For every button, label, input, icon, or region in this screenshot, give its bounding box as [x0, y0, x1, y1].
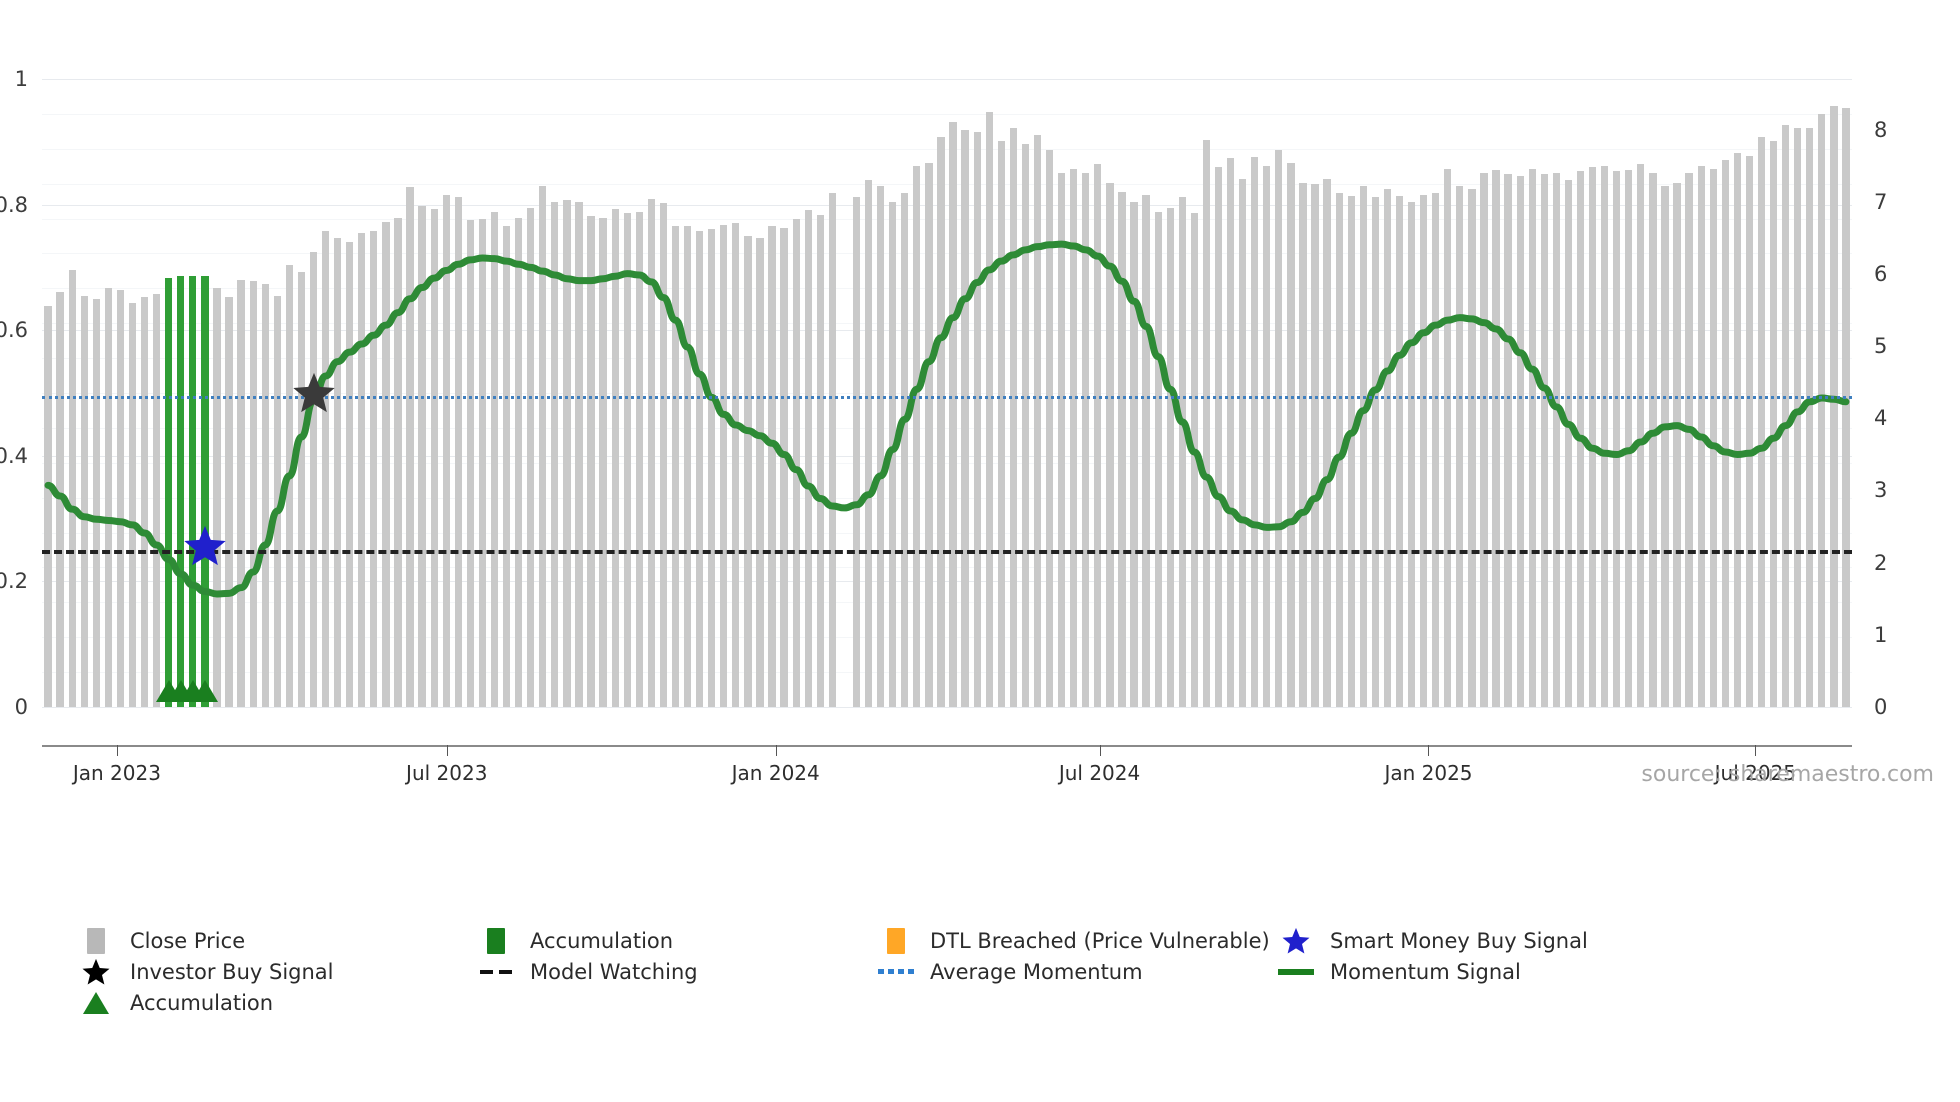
- legend-star-icon: [1278, 928, 1314, 954]
- legend-swatch-icon: [78, 928, 114, 954]
- legend-item-label: DTL Breached (Price Vulnerable): [930, 929, 1270, 953]
- legend-triangle-icon: [78, 990, 114, 1016]
- x-axis-tick: [1755, 745, 1756, 756]
- x-axis: Jan 2023Jul 2023Jan 2024Jul 2024Jan 2025…: [42, 745, 1852, 747]
- accumulation-triangle-icon: [192, 680, 218, 702]
- legend-item-label: Model Watching: [530, 960, 698, 984]
- x-axis-tick-label: Jul 2024: [1059, 761, 1140, 785]
- x-axis-tick-label: Jan 2025: [1384, 761, 1472, 785]
- y-axis-right-tick-label: 6: [1874, 262, 1887, 286]
- y-axis-left-tick-label: 1: [15, 67, 28, 91]
- legend-item[interactable]: Accumulation: [478, 925, 878, 956]
- legend-item-label: Investor Buy Signal: [130, 960, 334, 984]
- x-axis-tick: [117, 745, 118, 756]
- legend-item-label: Accumulation: [130, 991, 273, 1015]
- legend-item-label: Smart Money Buy Signal: [1330, 929, 1588, 953]
- y-axis-left-tick-label: 0.8: [0, 193, 28, 217]
- y-axis-right-tick-label: 3: [1874, 478, 1887, 502]
- legend-item-label: Accumulation: [530, 929, 673, 953]
- accumulation-triangle-markers: [42, 680, 1852, 720]
- legend-item[interactable]: Average Momentum: [878, 956, 1278, 987]
- legend-item[interactable]: DTL Breached (Price Vulnerable): [878, 925, 1278, 956]
- y-axis-right-tick-label: 0: [1874, 695, 1887, 719]
- y-axis-right-tick-label: 8: [1874, 118, 1887, 142]
- y-axis-left-tick-label: 0: [15, 695, 28, 719]
- legend-item[interactable]: Model Watching: [478, 956, 878, 987]
- x-axis-tick-label: Jan 2024: [732, 761, 820, 785]
- model-watching-line: [42, 550, 1852, 554]
- chart-root: 00.20.40.60.81 012345678 Jan 2023Jul 202…: [0, 0, 1960, 1102]
- smart-money-buy-signal-star-icon[interactable]: [182, 523, 228, 573]
- x-axis-tick: [447, 745, 448, 756]
- x-axis-tick-label: Jan 2023: [73, 761, 161, 785]
- x-axis-tick-label: Jul 2023: [406, 761, 487, 785]
- legend-item-label: Average Momentum: [930, 960, 1143, 984]
- y-axis-right-tick-label: 1: [1874, 623, 1887, 647]
- legend-swatch-icon: [878, 928, 914, 954]
- y-axis-left-tick-label: 0.4: [0, 444, 28, 468]
- legend-dotted-line-icon: [878, 959, 914, 985]
- plot-area: [42, 79, 1852, 707]
- legend-item[interactable]: Close Price: [78, 925, 478, 956]
- y-axis-left-tick-label: 0.6: [0, 318, 28, 342]
- y-axis-right-tick-label: 2: [1874, 551, 1887, 575]
- y-axis-right-tick-label: 4: [1874, 406, 1887, 430]
- legend-item[interactable]: Momentum Signal: [1278, 956, 1678, 987]
- y-axis-left-tick-label: 0.2: [0, 569, 28, 593]
- legend-solid-line-icon: [1278, 959, 1314, 985]
- y-axis-right-tick-label: 5: [1874, 334, 1887, 358]
- investor-buy-signal-star-icon[interactable]: [291, 370, 337, 420]
- chart-legend: Close PriceAccumulationDTL Breached (Pri…: [78, 925, 1918, 1018]
- legend-item-label: Close Price: [130, 929, 245, 953]
- legend-star-icon: [78, 959, 114, 985]
- legend-dashed-line-icon: [478, 959, 514, 985]
- legend-swatch-icon: [478, 928, 514, 954]
- legend-item-label: Momentum Signal: [1330, 960, 1521, 984]
- source-attribution: source: sharemaestro.com: [1641, 762, 1934, 787]
- x-axis-tick: [776, 745, 777, 756]
- legend-item[interactable]: Accumulation: [78, 987, 478, 1018]
- legend-item[interactable]: Smart Money Buy Signal: [1278, 925, 1678, 956]
- x-axis-tick: [1100, 745, 1101, 756]
- x-axis-tick: [1428, 745, 1429, 756]
- legend-item[interactable]: Investor Buy Signal: [78, 956, 478, 987]
- y-axis-right-tick-label: 7: [1874, 190, 1887, 214]
